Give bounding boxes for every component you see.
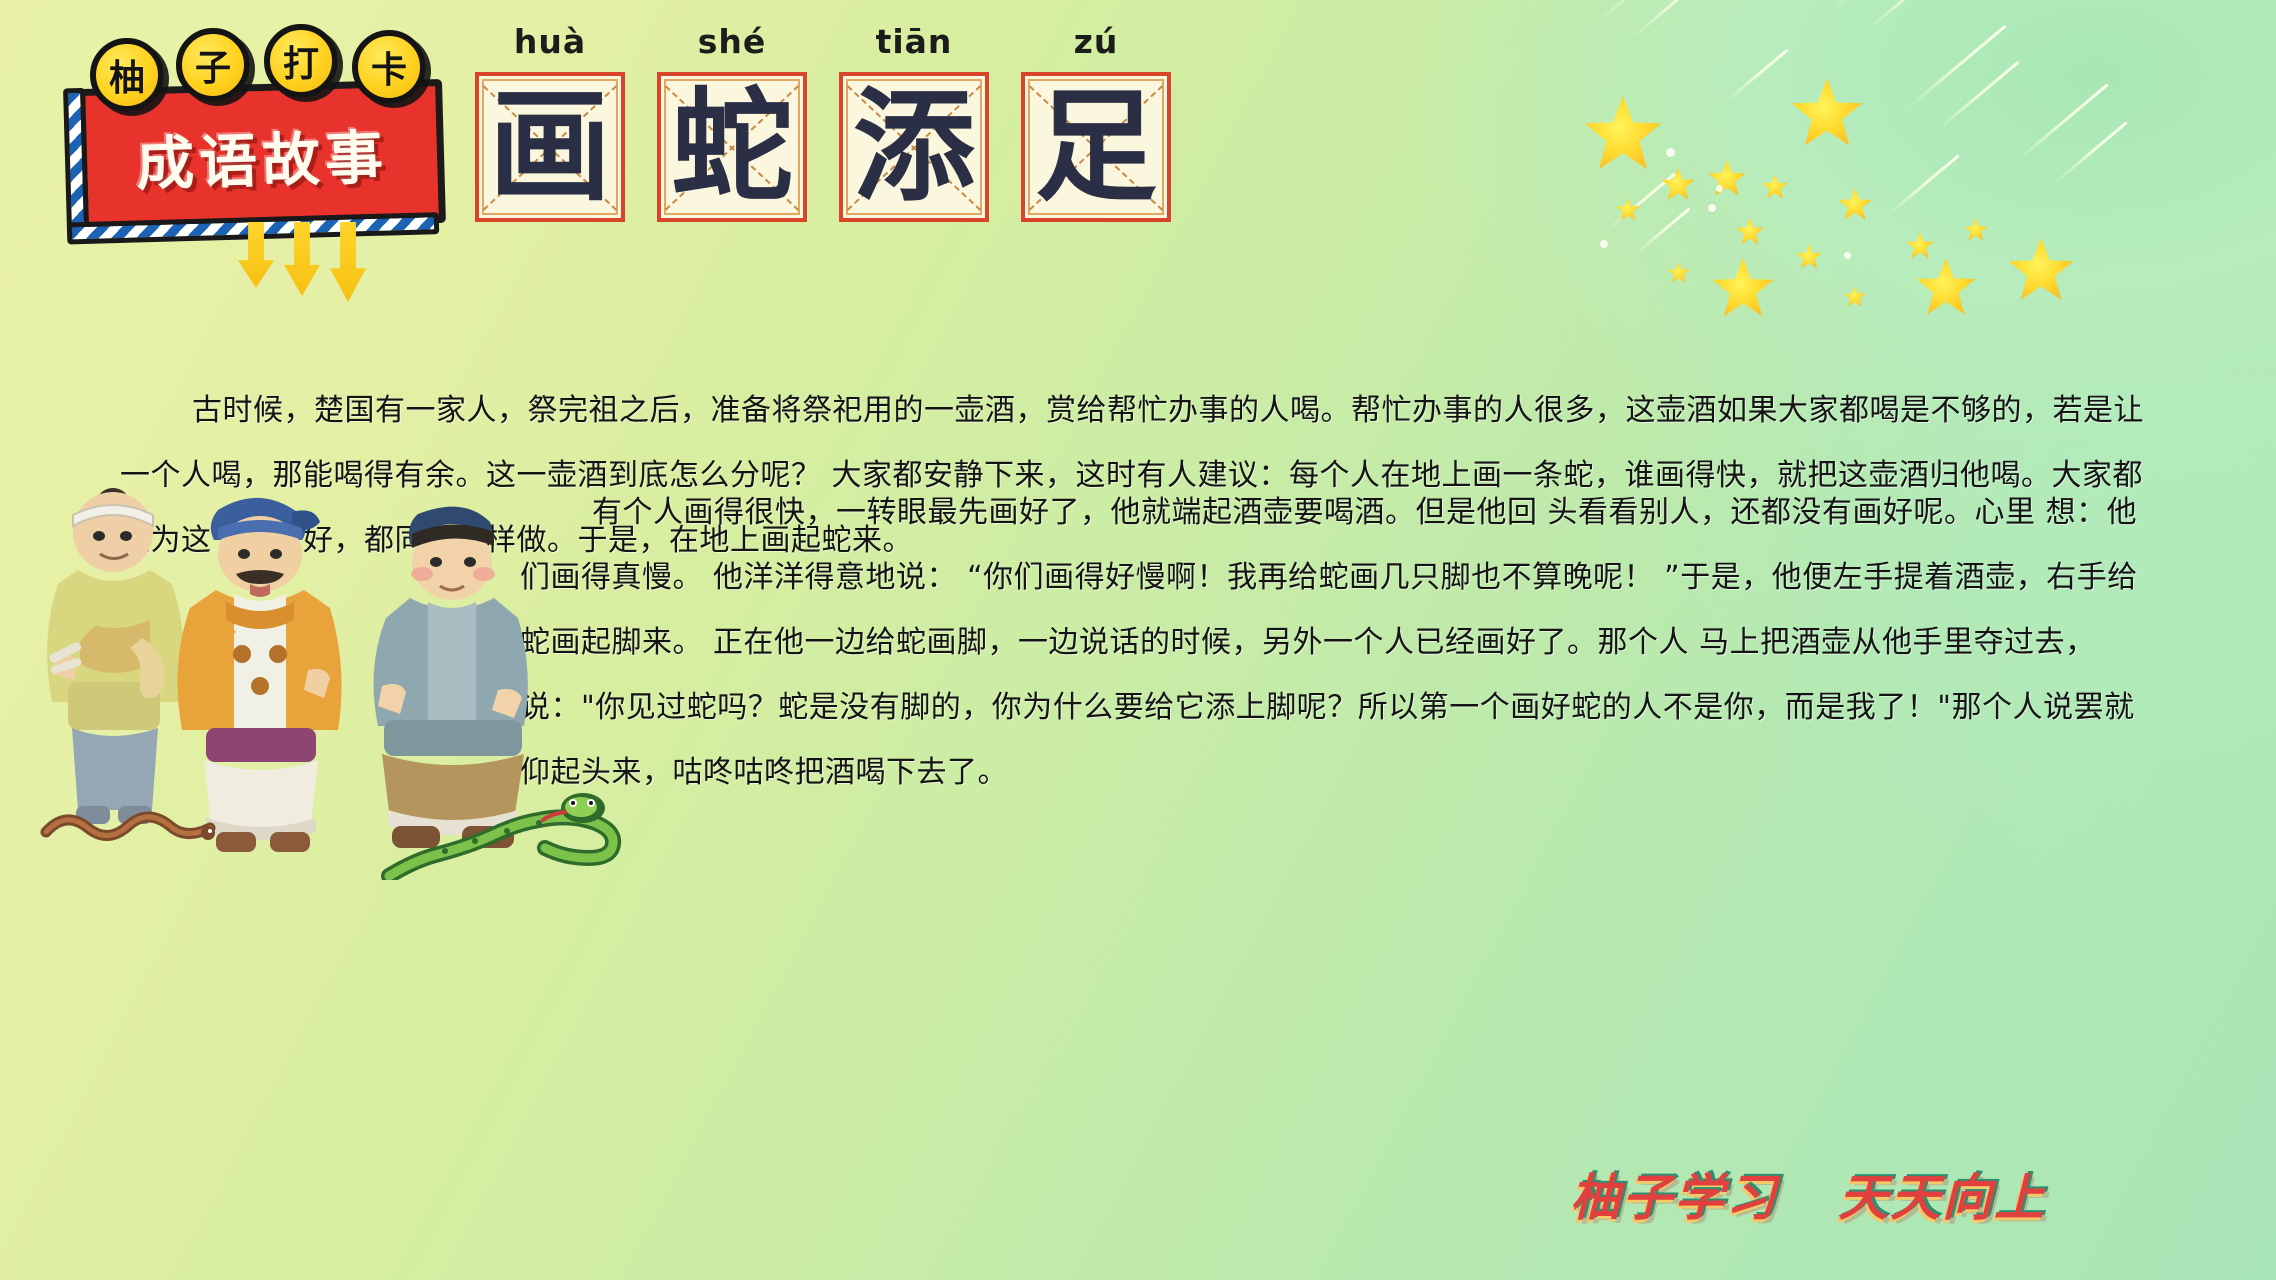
shooting-stars-decoration — [1576, 0, 2276, 340]
star-icon — [1791, 78, 1863, 150]
pinyin-label: huà — [470, 22, 630, 62]
tianzige-box: 添 — [839, 72, 989, 222]
idiom-char-cell: tiān 添 — [834, 22, 994, 222]
badge-coin: 柚 — [90, 38, 164, 112]
story-paragraph-2: 有个人画得很快，一转眼最先画好了，他就端起酒壶要喝酒。但是他回 头看看别人，还都… — [520, 480, 2160, 805]
star-icon — [1906, 232, 1934, 260]
star-icon — [1916, 258, 1976, 318]
snake-drawing-left — [40, 798, 220, 850]
pinyin-label: zú — [1016, 22, 1176, 62]
arrow-down-icon — [238, 222, 274, 288]
arrow-down-icon — [284, 222, 320, 296]
pinyin-label: tiān — [834, 22, 994, 62]
hanzi-glyph: 蛇 — [661, 76, 803, 218]
hanzi-glyph: 添 — [843, 76, 985, 218]
pinyin-label: shé — [652, 22, 812, 62]
star-icon — [1616, 198, 1640, 222]
brand-watermark: 柚子学习 天天向上 — [1570, 1158, 2046, 1230]
hanzi-glyph: 画 — [479, 76, 621, 218]
star-icon — [1668, 262, 1690, 284]
tianzige-box: 画 — [475, 72, 625, 222]
snake-drawing-right — [375, 790, 625, 880]
arrow-down-icon — [330, 222, 366, 302]
down-arrows-decoration — [238, 222, 398, 292]
star-icon — [1661, 168, 1695, 202]
idiom-char-cell: shé 蛇 — [652, 22, 812, 222]
star-icon — [1762, 174, 1788, 200]
watermark-right-text: 天天向上 — [1838, 1158, 2046, 1230]
star-icon — [1838, 188, 1872, 222]
figure-left — [47, 488, 183, 824]
badge-coin: 打 — [264, 24, 338, 98]
star-icon — [2008, 238, 2074, 304]
brand-badge: 成语故事 柚 子 打 卡 — [66, 26, 466, 266]
page-root: 成语故事 柚 子 打 卡 huà 画 shé — [0, 0, 2276, 1280]
star-icon — [1584, 96, 1662, 174]
star-icon — [1736, 218, 1764, 246]
idiom-char-cell: zú 足 — [1016, 22, 1176, 222]
idiom-headline: huà 画 shé 蛇 tiān 添 zú — [470, 22, 1176, 222]
star-icon — [1796, 244, 1822, 270]
idiom-char-cell: huà 画 — [470, 22, 630, 222]
hanzi-glyph: 足 — [1025, 76, 1167, 218]
star-icon — [1708, 160, 1746, 198]
badge-coin: 卡 — [352, 30, 426, 104]
tianzige-box: 蛇 — [657, 72, 807, 222]
watermark-left-text: 柚子学习 — [1570, 1158, 1778, 1230]
star-icon — [1964, 218, 1988, 242]
star-icon — [1844, 286, 1866, 308]
star-icon — [1712, 258, 1774, 320]
tianzige-box: 足 — [1021, 72, 1171, 222]
badge-coin: 子 — [176, 28, 250, 102]
badge-coin-row: 柚 子 打 卡 — [90, 24, 470, 108]
